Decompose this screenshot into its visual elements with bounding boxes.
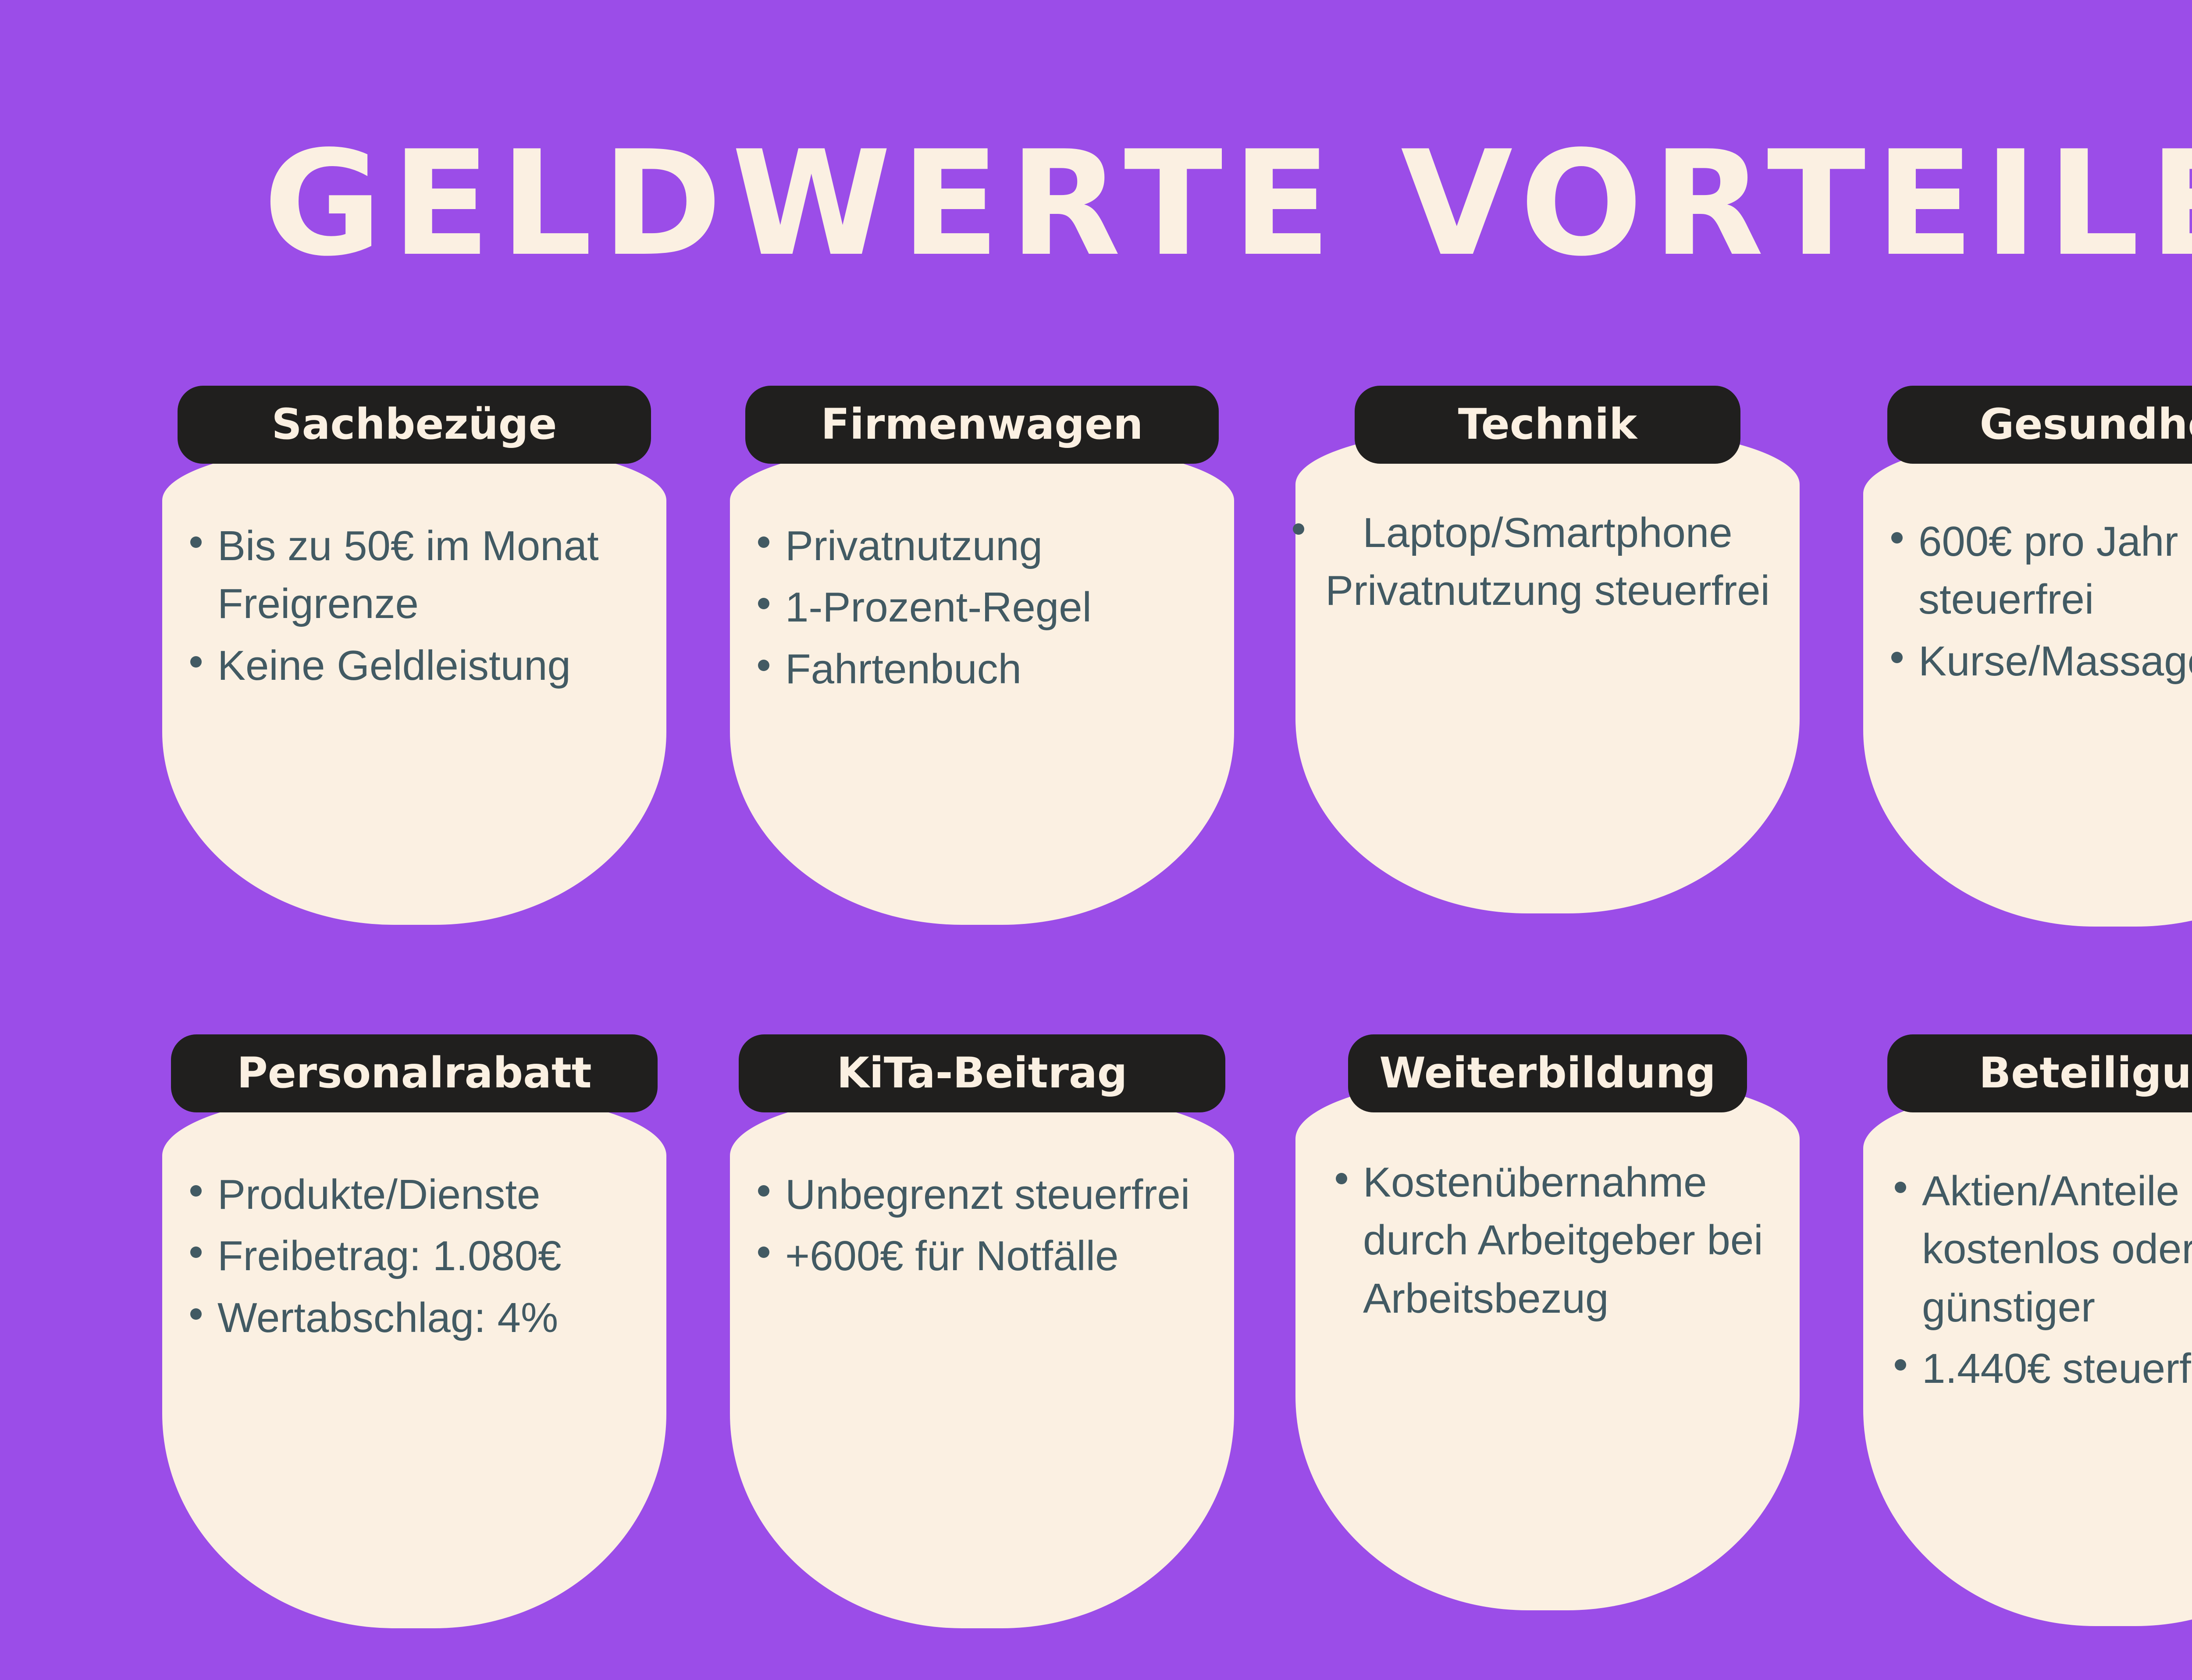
list-item: Kurse/Massagen (1877, 632, 2192, 690)
list-item: Wertabschlag: 4% (176, 1289, 652, 1347)
list-item: Aktien/Anteile kostenlos oder günstiger (1881, 1162, 2192, 1336)
list-item: 1-Prozent-Regel (744, 579, 1220, 636)
list-item: Privatnutzung (744, 517, 1220, 575)
list-item: Produkte/Dienste (176, 1166, 652, 1224)
list-item: 1.440€ steuerfrei (1881, 1340, 2192, 1398)
list-item: Laptop/Smartphone Privatnutzung steuerfr… (1320, 504, 1775, 620)
card-bullets: Bis zu 50€ im Monat Freigrenze Keine Gel… (176, 517, 652, 698)
card-bullets: Laptop/Smartphone Privatnutzung steuerfr… (1320, 504, 1775, 624)
card-title-firmenwagen: Firmenwagen (745, 386, 1219, 464)
infographic-canvas: Geldwerte Vorteile Sachbezüge Bis zu 50€… (0, 0, 2192, 1680)
card-title-personalrabatt: Personalrabatt (171, 1034, 658, 1112)
card-bullets: Kostenübernahme durch Arbeitgeber bei Ar… (1322, 1154, 1778, 1331)
card-title-technik: Technik (1355, 386, 1740, 464)
card-title-weiterbildung: Weiterbildung (1348, 1034, 1747, 1112)
card-title-kita-beitrag: KiTa-Beitrag (739, 1034, 1225, 1112)
list-item: Kostenübernahme durch Arbeitgeber bei Ar… (1322, 1154, 1778, 1328)
card-title-gesundheit: Gesundheit (1887, 386, 2192, 464)
page-title: Geldwerte Vorteile (0, 131, 2192, 276)
card-bullets: Privatnutzung 1-Prozent-Regel Fahrtenbuc… (744, 517, 1220, 702)
list-item: Keine Geldleistung (176, 637, 652, 695)
list-item: Fahrtenbuch (744, 640, 1220, 698)
card-bullets: Produkte/Dienste Freibetrag: 1.080€ Wert… (176, 1166, 652, 1350)
card-bullets: Unbegrenzt steuerfrei +600€ für Notfälle (744, 1166, 1220, 1289)
list-item: Unbegrenzt steuerfrei (744, 1166, 1220, 1224)
card-title-beteiligung: Beteiligung (1887, 1034, 2192, 1112)
list-item: +600€ für Notfälle (744, 1227, 1220, 1285)
card-title-sachbezuege: Sachbezüge (178, 386, 651, 464)
card-body (1295, 426, 1800, 913)
list-item: 600€ pro Jahr steuerfrei (1877, 513, 2192, 629)
card-bullets: 600€ pro Jahr steuerfrei Kurse/Massagen (1877, 513, 2192, 694)
list-item: Bis zu 50€ im Monat Freigrenze (176, 517, 652, 633)
card-bullets: Aktien/Anteile kostenlos oder günstiger … (1881, 1162, 2192, 1402)
list-item: Freibetrag: 1.080€ (176, 1227, 652, 1285)
